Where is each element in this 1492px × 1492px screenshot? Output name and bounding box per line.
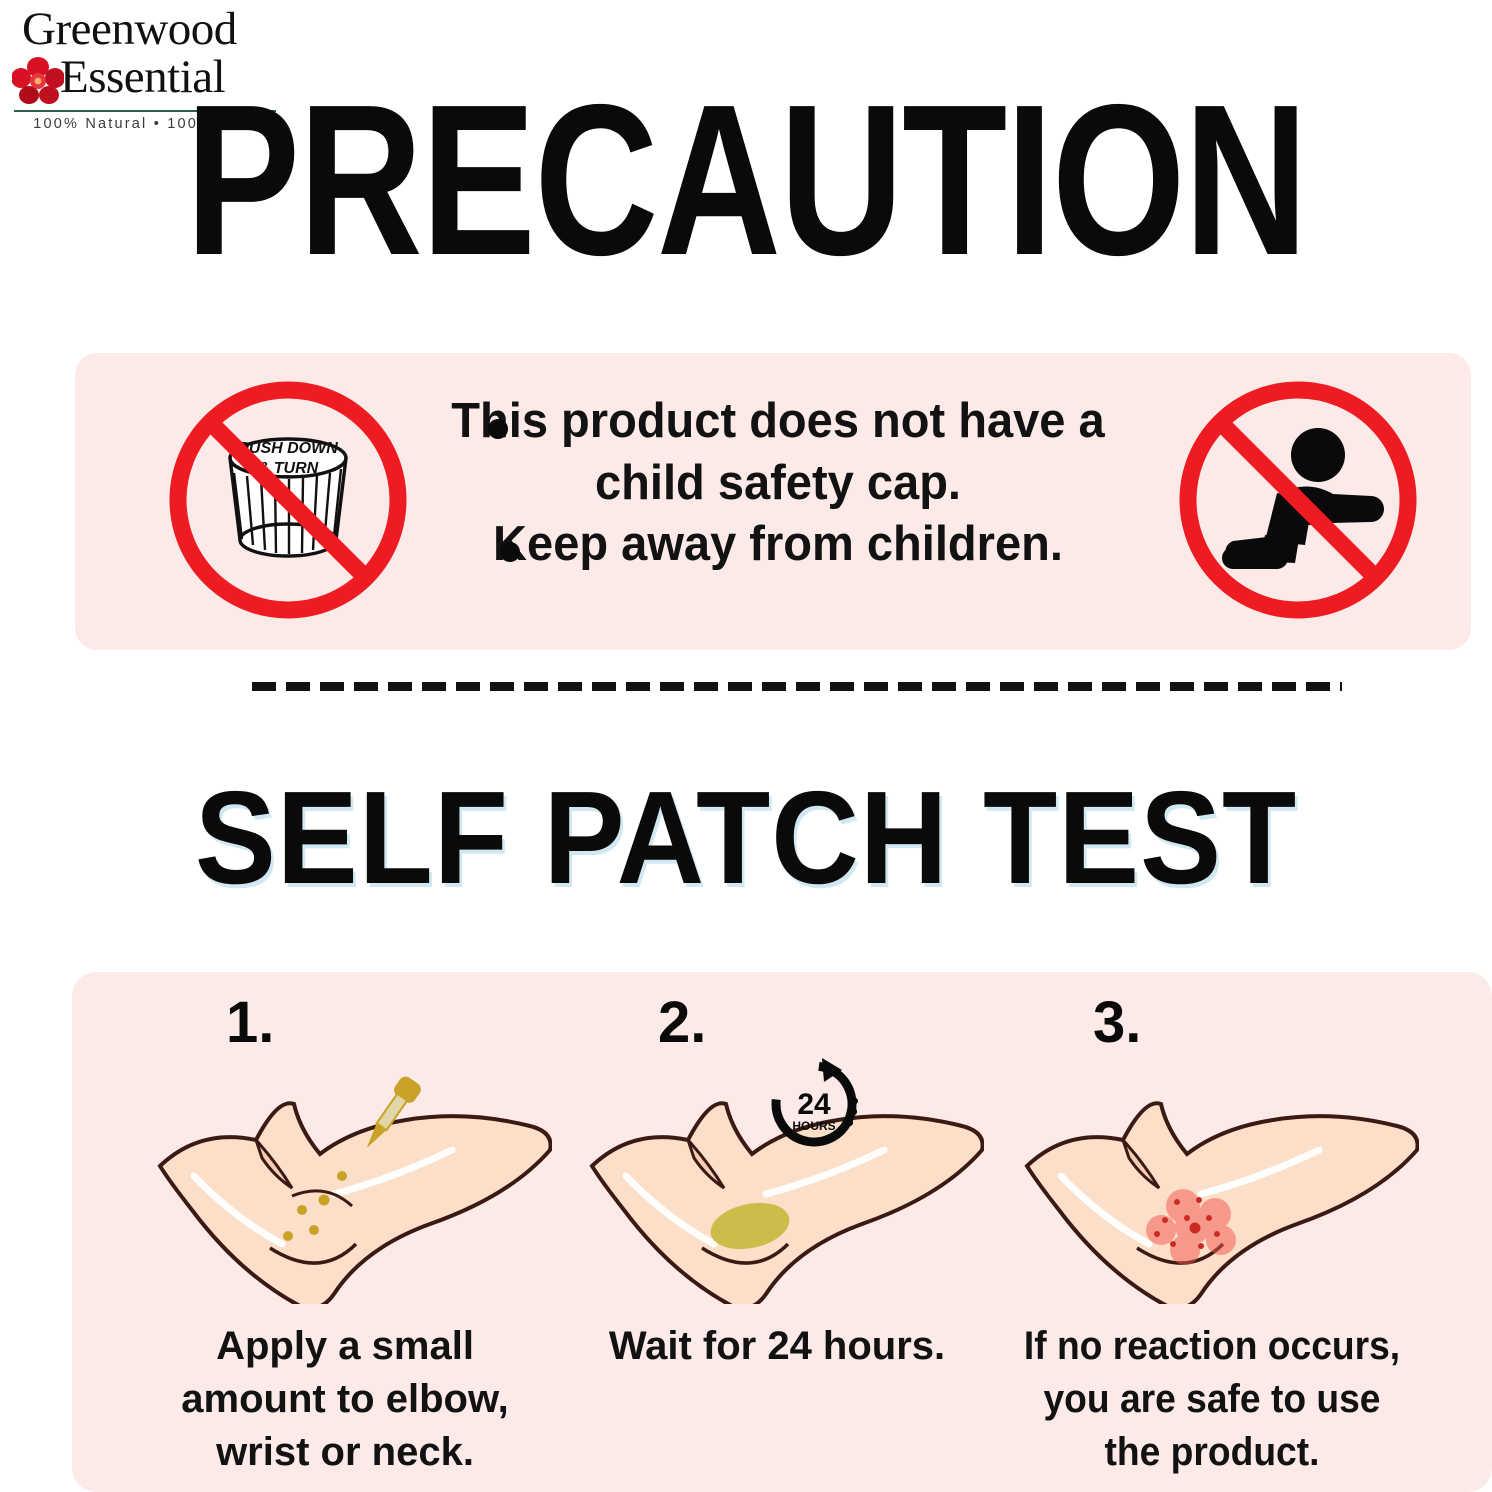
bullet-point-2 <box>500 542 520 562</box>
no-children-icon <box>1173 375 1423 625</box>
brand-name-line-1: Greenwood <box>22 6 237 53</box>
patch-test-step-2: 2. 24 <box>562 972 992 1492</box>
step-caption-line-3: wrist or neck. <box>130 1426 560 1479</box>
section-divider <box>252 682 1342 691</box>
step-caption-line-2: amount to elbow, <box>130 1373 560 1426</box>
step-caption-line-1: Apply a small <box>130 1320 560 1373</box>
page-title-precaution: PRECAUTION <box>149 72 1343 287</box>
badge-value: 24 <box>797 1088 831 1121</box>
step-caption-line-3: the product. <box>1012 1426 1412 1479</box>
step-number: 1. <box>226 994 274 1052</box>
no-child-safety-cap-icon: PUSH DOWN & TURN <box>163 375 413 625</box>
patch-test-step-1: 1. <box>130 972 560 1492</box>
elbow-with-dropper-icon <box>138 1054 552 1304</box>
step-caption: If no reaction occurs, you are safe to u… <box>1012 1320 1412 1480</box>
precaution-line-3: Keep away from children. <box>408 514 1147 576</box>
red-flower-icon <box>12 56 64 104</box>
self-patch-test-panel: 1. <box>72 972 1492 1492</box>
elbow-with-oil-patch-icon: 24 HOURS <box>570 1054 984 1304</box>
step-caption-line-1: If no reaction occurs, <box>1012 1320 1412 1373</box>
step-number: 3. <box>1093 994 1141 1052</box>
precaution-line-2: child safety cap. <box>408 453 1147 515</box>
step-caption-line-2: you are safe to use <box>1012 1373 1412 1426</box>
badge-unit: HOURS <box>792 1119 835 1133</box>
precaution-line-1: This product does not have a <box>408 391 1147 453</box>
step-number: 2. <box>658 994 706 1052</box>
step-caption: Apply a small amount to elbow, wrist or … <box>130 1320 560 1480</box>
page-title-self-patch-test: SELF PATCH TEST <box>60 772 1433 904</box>
patch-test-step-3: 3. <box>997 972 1427 1492</box>
precaution-panel: PUSH DOWN & TURN This product does not h… <box>75 353 1471 650</box>
step-caption-line-1: Wait for 24 hours. <box>562 1320 992 1373</box>
step-caption: Wait for 24 hours. <box>562 1320 992 1373</box>
elbow-with-rash-icon <box>1005 1054 1419 1304</box>
bullet-point-1 <box>488 419 508 439</box>
